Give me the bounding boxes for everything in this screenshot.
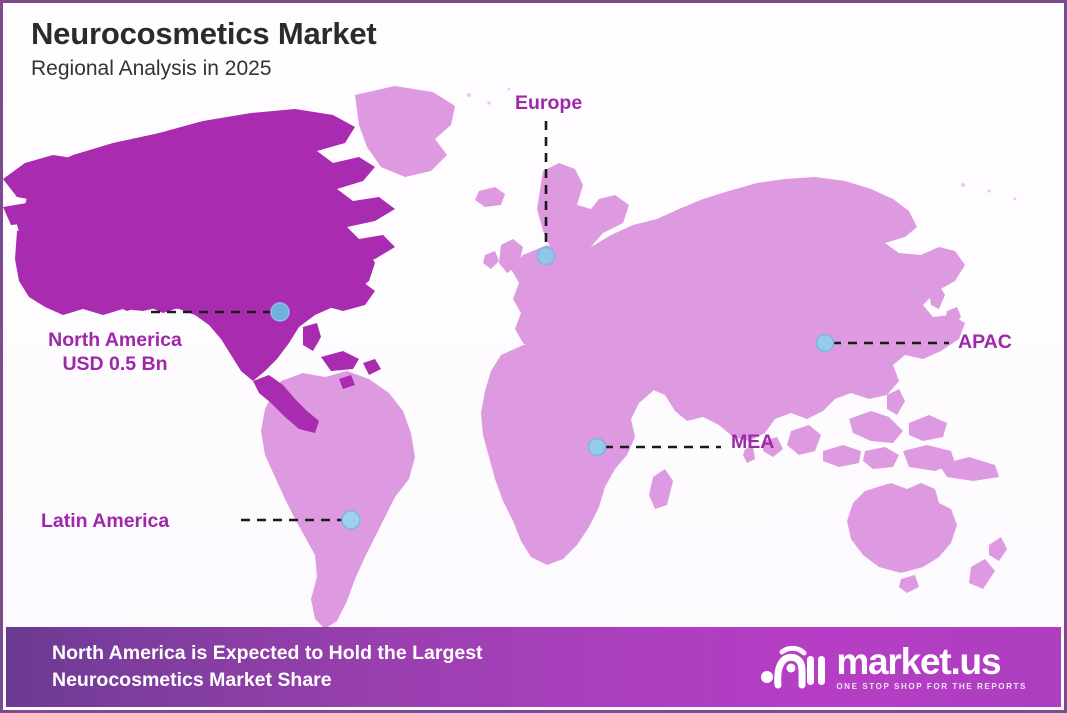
logo-wordmark: market.us	[836, 643, 1000, 680]
callout-label-latin-america[interactable]: Latin America	[41, 509, 169, 533]
market-us-logo-icon	[760, 644, 826, 690]
footer-bar: North America is Expected to Hold the La…	[6, 627, 1061, 707]
callout-region-name-europe: Europe	[515, 92, 582, 114]
callout-label-north-america[interactable]: North America USD 0.5 Bn	[17, 328, 213, 377]
footer-headline-line-1: North America is Expected to Hold the La…	[52, 640, 483, 667]
infographic-canvas: Neurocosmetics Market Regional Analysis …	[0, 0, 1067, 713]
callout-label-europe[interactable]: Europe	[515, 91, 582, 115]
map-region-africa	[481, 339, 697, 565]
map-region-eurasia	[355, 86, 1007, 593]
logo-tagline: ONE STOP SHOP FOR THE REPORTS	[836, 683, 1027, 691]
footer-headline-line-2: Neurocosmetics Market Share	[52, 667, 483, 694]
brand-logo[interactable]: market.us ONE STOP SHOP FOR THE REPORTS	[760, 643, 1037, 691]
logo-text-block: market.us ONE STOP SHOP FOR THE REPORTS	[836, 643, 1027, 691]
callout-region-name-apac: APAC	[958, 331, 1012, 353]
callout-region-name-latin-america: Latin America	[41, 510, 169, 532]
page-title: Neurocosmetics Market	[31, 17, 731, 51]
callout-region-name-north-america: North America	[48, 329, 182, 351]
callout-region-value-north-america: USD 0.5 Bn	[62, 353, 167, 375]
callout-label-mea[interactable]: MEA	[731, 430, 774, 454]
footer-headline: North America is Expected to Hold the La…	[52, 640, 483, 694]
callout-label-apac[interactable]: APAC	[958, 330, 1012, 354]
callout-region-name-mea: MEA	[731, 431, 774, 453]
